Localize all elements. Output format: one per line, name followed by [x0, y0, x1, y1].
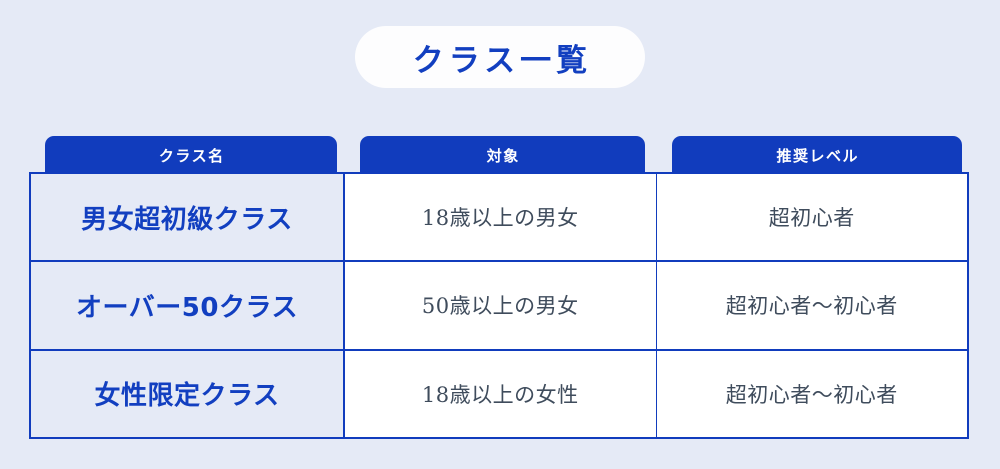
level-text: 超初心者〜初心者: [726, 379, 898, 409]
class-list-page: クラス一覧 クラス名 対象 推奨レベル 男女超初級クラス 18歳以上の男女 超初…: [0, 0, 1000, 469]
cell-level: 超初心者〜初心者: [657, 351, 968, 437]
level-text: 超初心者〜初心者: [726, 290, 898, 320]
column-header-target-label: 対象: [485, 145, 520, 166]
column-header-class-name: クラス名: [45, 136, 337, 174]
column-header-level-label: 推奨レベル: [775, 145, 859, 166]
class-name-text: オーバー50クラス: [76, 287, 298, 324]
class-list-table: 男女超初級クラス 18歳以上の男女 超初心者 オーバー50クラス 50歳以上の男…: [29, 172, 969, 439]
cell-class-name: オーバー50クラス: [31, 262, 345, 348]
cell-class-name: 女性限定クラス: [31, 351, 345, 437]
target-text: 18歳以上の男女: [422, 202, 579, 232]
page-title-pill: クラス一覧: [355, 26, 645, 88]
cell-level: 超初心者: [657, 174, 968, 260]
table-row: オーバー50クラス 50歳以上の男女 超初心者〜初心者: [31, 262, 967, 350]
cell-target: 50歳以上の男女: [345, 262, 657, 348]
column-header-class-name-label: クラス名: [157, 145, 224, 166]
cell-target: 18歳以上の男女: [345, 174, 657, 260]
column-header-target: 対象: [360, 136, 645, 174]
page-title: クラス一覧: [408, 35, 592, 80]
table-row: 男女超初級クラス 18歳以上の男女 超初心者: [31, 174, 967, 262]
cell-target: 18歳以上の女性: [345, 351, 657, 437]
column-header-level: 推奨レベル: [672, 136, 962, 174]
table-row: 女性限定クラス 18歳以上の女性 超初心者〜初心者: [31, 351, 967, 437]
target-text: 50歳以上の男女: [422, 290, 579, 320]
cell-level: 超初心者〜初心者: [657, 262, 968, 348]
cell-class-name: 男女超初級クラス: [31, 174, 345, 260]
class-name-text: 女性限定クラス: [95, 375, 280, 412]
level-text: 超初心者: [769, 202, 855, 232]
table-header-tabs: クラス名 対象 推奨レベル: [0, 136, 1000, 174]
target-text: 18歳以上の女性: [422, 379, 579, 409]
class-name-text: 男女超初級クラス: [81, 199, 292, 236]
